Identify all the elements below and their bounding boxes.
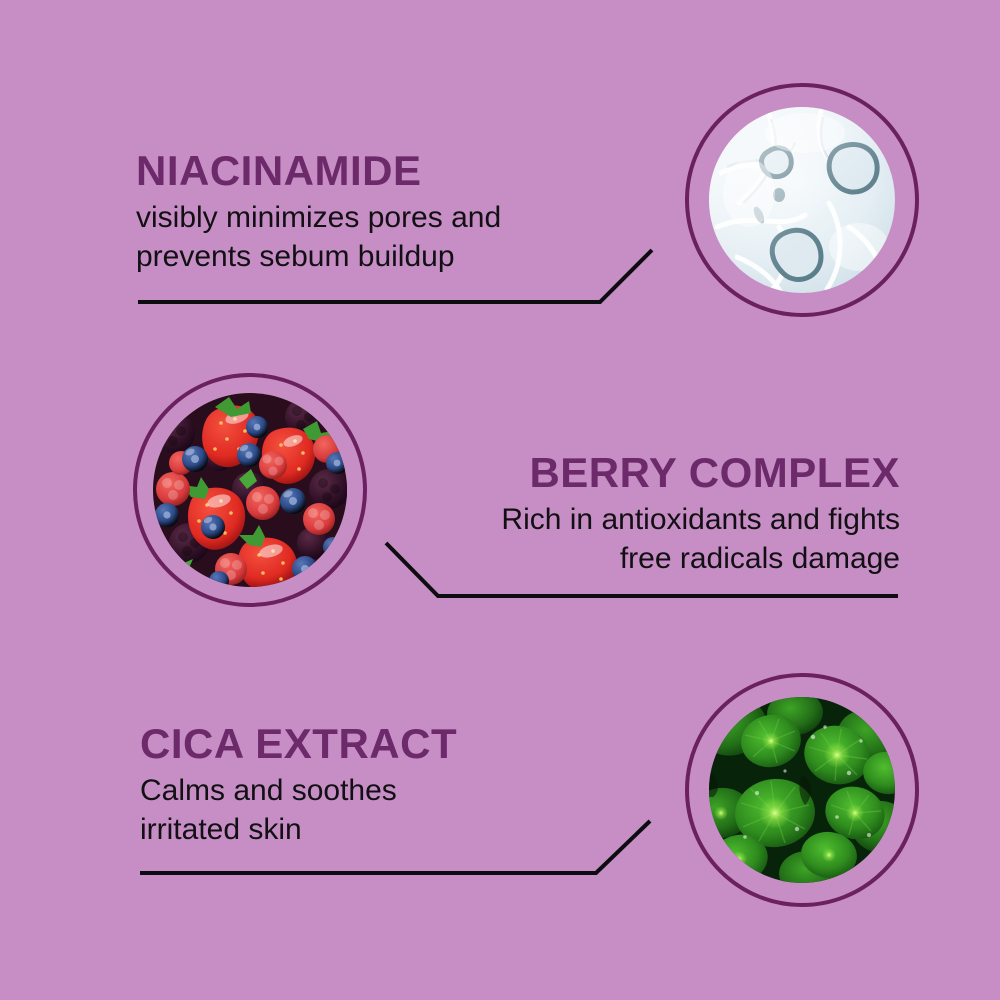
description-line: Calms and soothes xyxy=(140,771,457,810)
ingredient-block-cica: CICA EXTRACT Calms and soothes irritated… xyxy=(140,723,457,849)
ingredient-circle-berry xyxy=(133,373,367,607)
ingredient-heading-cica: CICA EXTRACT xyxy=(140,723,457,765)
ingredient-block-niacinamide: NIACINAMIDE visibly minimizes pores and … xyxy=(136,150,501,276)
ingredient-heading-berry: BERRY COMPLEX xyxy=(501,452,900,494)
description-line: irritated skin xyxy=(140,810,457,849)
description-line: visibly minimizes pores and xyxy=(136,198,501,237)
ingredient-description-cica: Calms and soothes irritated skin xyxy=(140,771,457,849)
infographic-canvas: NIACINAMIDE visibly minimizes pores and … xyxy=(0,0,1000,1000)
description-line: prevents sebum buildup xyxy=(136,237,501,276)
centella-asiatica-leaves-photo xyxy=(709,697,895,883)
ingredient-heading-niacinamide: NIACINAMIDE xyxy=(136,150,501,192)
ingredient-description-berry: Rich in antioxidants and fights free rad… xyxy=(501,500,900,578)
ingredient-circle-cica xyxy=(685,673,919,907)
ingredient-block-berry: BERRY COMPLEX Rich in antioxidants and f… xyxy=(501,452,900,578)
ingredient-circle-niacinamide xyxy=(685,83,919,317)
skin-texture-water-droplets-photo xyxy=(709,107,895,293)
ingredient-description-niacinamide: visibly minimizes pores and prevents seb… xyxy=(136,198,501,276)
description-line: Rich in antioxidants and fights xyxy=(501,500,900,539)
description-line: free radicals damage xyxy=(501,539,900,578)
mixed-berries-photo xyxy=(153,393,347,587)
